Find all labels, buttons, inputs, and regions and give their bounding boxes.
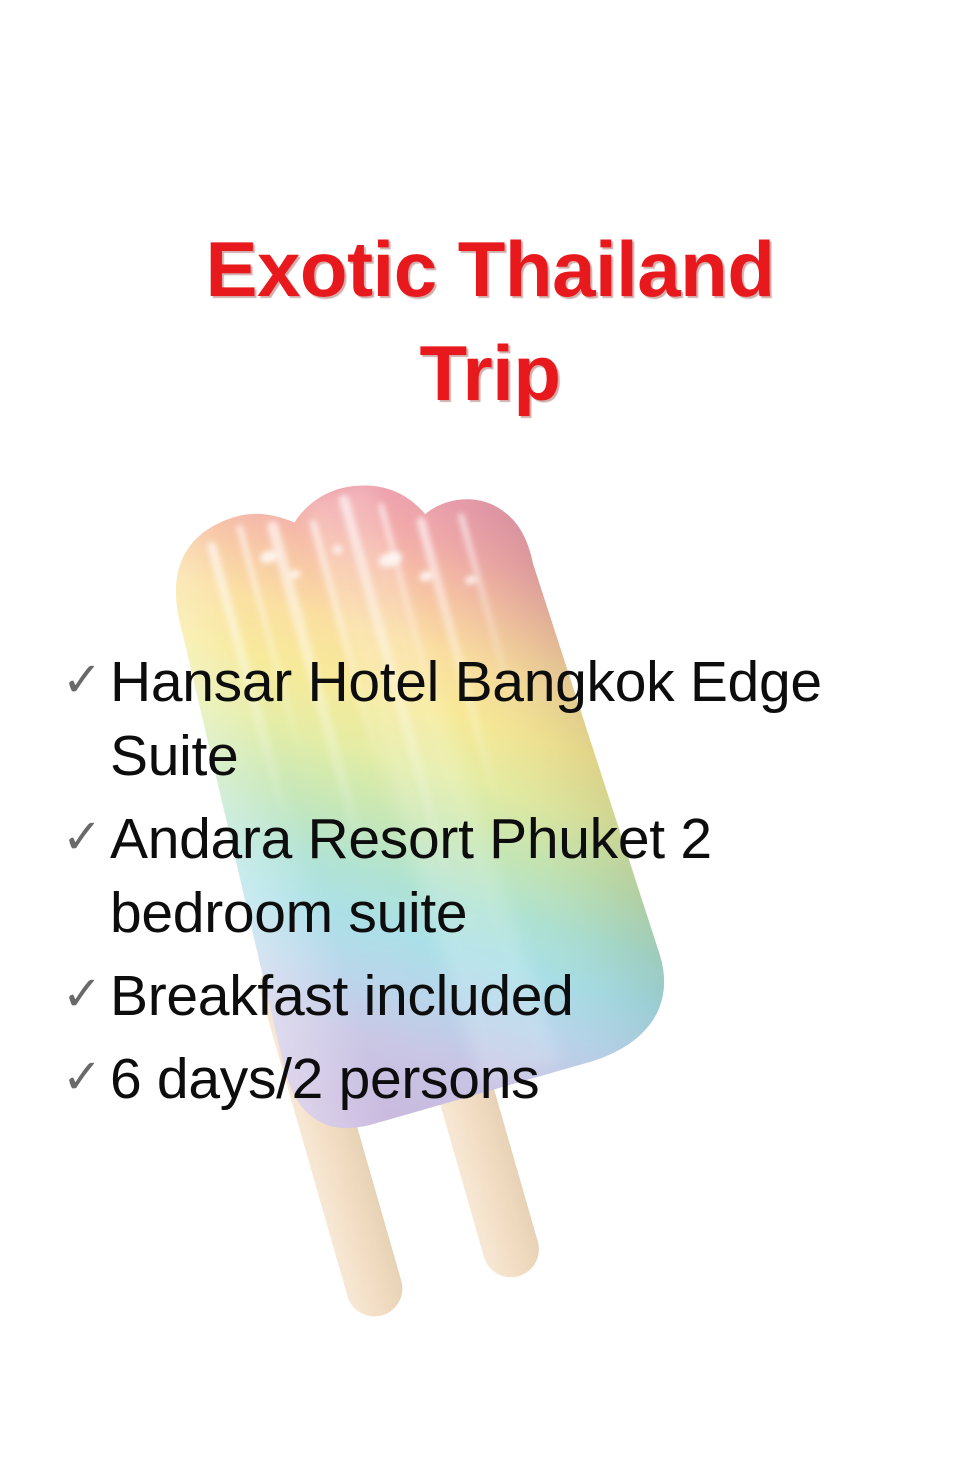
list-item-label: 6 days/2 persons <box>110 1042 912 1116</box>
list-item-label: Breakfast included <box>110 959 912 1033</box>
check-icon: ✓ <box>62 645 110 711</box>
list-item: ✓ 6 days/2 persons <box>62 1042 912 1116</box>
trip-inclusions-list: ✓ Hansar Hotel Bangkok Edge Suite ✓ Anda… <box>62 645 912 1126</box>
check-icon: ✓ <box>62 802 110 868</box>
list-item: ✓ Hansar Hotel Bangkok Edge Suite <box>62 645 912 793</box>
slide-title: Exotic Thailand Trip <box>0 218 980 425</box>
list-item-label: Andara Resort Phuket 2 bedroom suite <box>110 802 912 950</box>
check-icon: ✓ <box>62 959 110 1025</box>
title-line-2: Trip <box>0 322 980 426</box>
title-line-1: Exotic Thailand <box>0 218 980 322</box>
list-item: ✓ Andara Resort Phuket 2 bedroom suite <box>62 802 912 950</box>
check-icon: ✓ <box>62 1042 110 1108</box>
list-item: ✓ Breakfast included <box>62 959 912 1033</box>
list-item-label: Hansar Hotel Bangkok Edge Suite <box>110 645 912 793</box>
slide-canvas: Exotic Thailand Trip ✓ Hansar Hotel Bang… <box>0 0 980 1470</box>
